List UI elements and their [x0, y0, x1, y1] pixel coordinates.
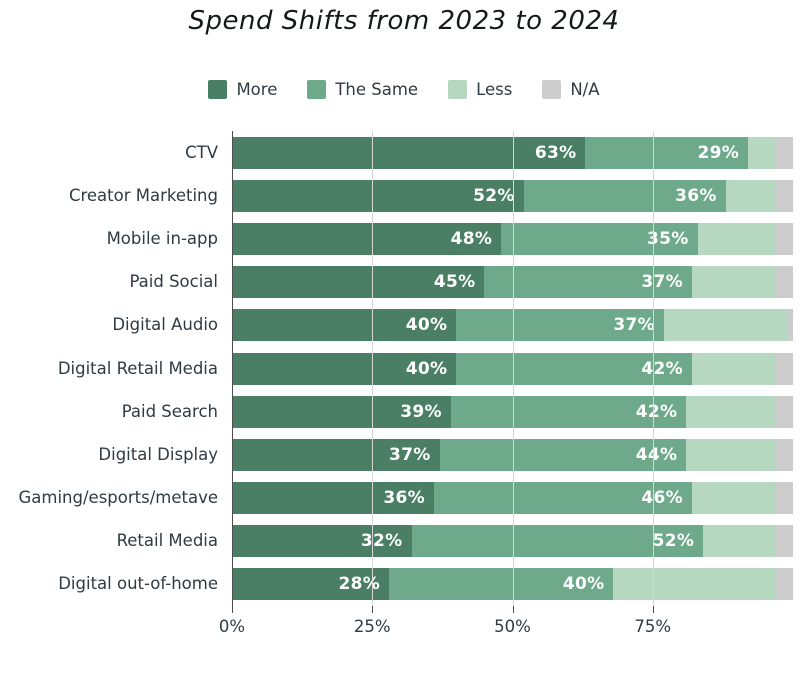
legend-item-n-a[interactable]: N/A	[542, 80, 599, 99]
bar-segment-less	[613, 568, 776, 600]
x-tick-label: 50%	[494, 617, 531, 636]
bar-segment-less	[664, 309, 787, 341]
bar-segment-less	[748, 137, 776, 169]
bar-segment-label: 42%	[636, 402, 687, 422]
bar-segment-label: 37%	[641, 272, 692, 292]
x-tick-label: 0%	[219, 617, 245, 636]
y-axis-label: Retail Media	[117, 525, 218, 557]
y-axis-label: Paid Search	[122, 396, 218, 428]
x-tick-mark	[513, 606, 514, 613]
bar-segment-more: 63%	[232, 137, 585, 169]
legend-item-the-same[interactable]: The Same	[307, 80, 418, 99]
legend-item-label: The Same	[335, 80, 418, 99]
legend-item-more[interactable]: More	[208, 80, 277, 99]
bar-segment-label: 46%	[641, 488, 692, 508]
bar-segment-label: 40%	[563, 574, 614, 594]
y-axis-label: Digital Retail Media	[58, 353, 218, 385]
bar-segment-label: 52%	[473, 186, 524, 206]
legend-swatch-icon	[208, 80, 227, 99]
bar-segment-label: 48%	[451, 229, 502, 249]
bar-row: 40%37%	[232, 309, 793, 341]
legend-item-label: More	[236, 80, 277, 99]
bar-segment-label: 32%	[361, 531, 412, 551]
bar-row: 39%42%	[232, 396, 793, 428]
bar-row: 28%40%	[232, 568, 793, 600]
bar-row: 32%52%	[232, 525, 793, 557]
bar-segment-the-same: 40%	[389, 568, 613, 600]
bar-segment-n-a	[776, 568, 793, 600]
bar-segment-less	[698, 223, 777, 255]
bar-segment-more: 52%	[232, 180, 524, 212]
bar-segment-more: 40%	[232, 353, 456, 385]
x-tick-mark	[372, 606, 373, 613]
chart-title: Spend Shifts from 2023 to 2024	[0, 6, 808, 36]
bar-segment-less	[692, 266, 776, 298]
bar-row: 48%35%	[232, 223, 793, 255]
bar-segment-label: 39%	[400, 402, 451, 422]
bar-segment-the-same: 52%	[412, 525, 704, 557]
bar-segment-more: 37%	[232, 439, 440, 471]
bar-segment-less	[703, 525, 776, 557]
bar-row: 63%29%	[232, 137, 793, 169]
bar-segment-label: 28%	[338, 574, 389, 594]
bar-segment-n-a	[776, 439, 793, 471]
bar-segment-n-a	[776, 525, 793, 557]
bar-segment-less	[726, 180, 776, 212]
bar-segment-label: 35%	[647, 229, 698, 249]
bar-segment-label: 63%	[535, 143, 586, 163]
bar-segment-label: 37%	[613, 315, 664, 335]
bar-segment-n-a	[776, 223, 793, 255]
bar-segment-the-same: 37%	[484, 266, 692, 298]
y-axis-label: Digital out-of-home	[58, 568, 218, 600]
bar-row: 52%36%	[232, 180, 793, 212]
y-axis-label: Mobile in-app	[107, 223, 218, 255]
bar-segment-the-same: 35%	[501, 223, 697, 255]
bar-segment-more: 28%	[232, 568, 389, 600]
x-tick-label: 75%	[634, 617, 671, 636]
plot-area: 63%29%52%36%48%35%45%37%40%37%40%42%39%4…	[232, 131, 793, 606]
chart-container: Spend Shifts from 2023 to 2024 MoreThe S…	[0, 0, 808, 675]
bar-segment-the-same: 36%	[524, 180, 726, 212]
bar-segment-more: 39%	[232, 396, 451, 428]
y-axis-label: Digital Audio	[112, 309, 218, 341]
bar-rows: 63%29%52%36%48%35%45%37%40%37%40%42%39%4…	[232, 131, 793, 606]
x-tick-mark	[232, 606, 233, 613]
y-axis-label: Paid Social	[129, 266, 218, 298]
legend-item-less[interactable]: Less	[448, 80, 512, 99]
bar-segment-more: 36%	[232, 482, 434, 514]
bar-segment-n-a	[776, 396, 793, 428]
bar-row: 40%42%	[232, 353, 793, 385]
bar-segment-less	[692, 353, 776, 385]
bar-segment-label: 29%	[698, 143, 749, 163]
bar-segment-the-same: 42%	[451, 396, 687, 428]
legend-item-label: N/A	[570, 80, 599, 99]
bar-segment-the-same: 29%	[585, 137, 748, 169]
bar-segment-label: 52%	[653, 531, 704, 551]
y-axis-label: Gaming/esports/metave	[19, 482, 219, 514]
bar-segment-less	[686, 439, 776, 471]
bar-segment-n-a	[787, 309, 793, 341]
bar-segment-label: 45%	[434, 272, 485, 292]
bar-segment-label: 42%	[641, 359, 692, 379]
bar-segment-label: 40%	[406, 315, 457, 335]
bar-segment-n-a	[776, 482, 793, 514]
x-tick-label: 25%	[354, 617, 391, 636]
bar-row: 37%44%	[232, 439, 793, 471]
bar-row: 36%46%	[232, 482, 793, 514]
chart-legend: MoreThe SameLessN/A	[0, 80, 808, 99]
bar-segment-the-same: 46%	[434, 482, 692, 514]
legend-swatch-icon	[307, 80, 326, 99]
legend-item-label: Less	[476, 80, 512, 99]
y-axis-category-labels: CTVCreator MarketingMobile in-appPaid So…	[0, 131, 228, 606]
bar-segment-less	[686, 396, 776, 428]
bar-segment-label: 37%	[389, 445, 440, 465]
legend-swatch-icon	[448, 80, 467, 99]
bar-segment-the-same: 44%	[440, 439, 687, 471]
bar-segment-label: 40%	[406, 359, 457, 379]
bar-segment-less	[692, 482, 776, 514]
bar-row: 45%37%	[232, 266, 793, 298]
bar-segment-n-a	[776, 266, 793, 298]
bar-segment-label: 44%	[636, 445, 687, 465]
bar-segment-more: 32%	[232, 525, 412, 557]
y-axis-label: Digital Display	[98, 439, 218, 471]
bar-segment-label: 36%	[675, 186, 726, 206]
bar-segment-more: 45%	[232, 266, 484, 298]
bar-segment-n-a	[776, 180, 793, 212]
x-axis-ticks: 0%25%50%75%	[232, 606, 793, 656]
bar-segment-n-a	[776, 353, 793, 385]
bar-segment-more: 40%	[232, 309, 456, 341]
bar-segment-more: 48%	[232, 223, 501, 255]
y-axis-label: CTV	[185, 137, 218, 169]
bar-segment-the-same: 37%	[456, 309, 664, 341]
legend-swatch-icon	[542, 80, 561, 99]
bar-segment-n-a	[776, 137, 793, 169]
bar-segment-the-same: 42%	[456, 353, 692, 385]
x-tick-mark	[653, 606, 654, 613]
y-axis-label: Creator Marketing	[69, 180, 218, 212]
bar-segment-label: 36%	[383, 488, 434, 508]
